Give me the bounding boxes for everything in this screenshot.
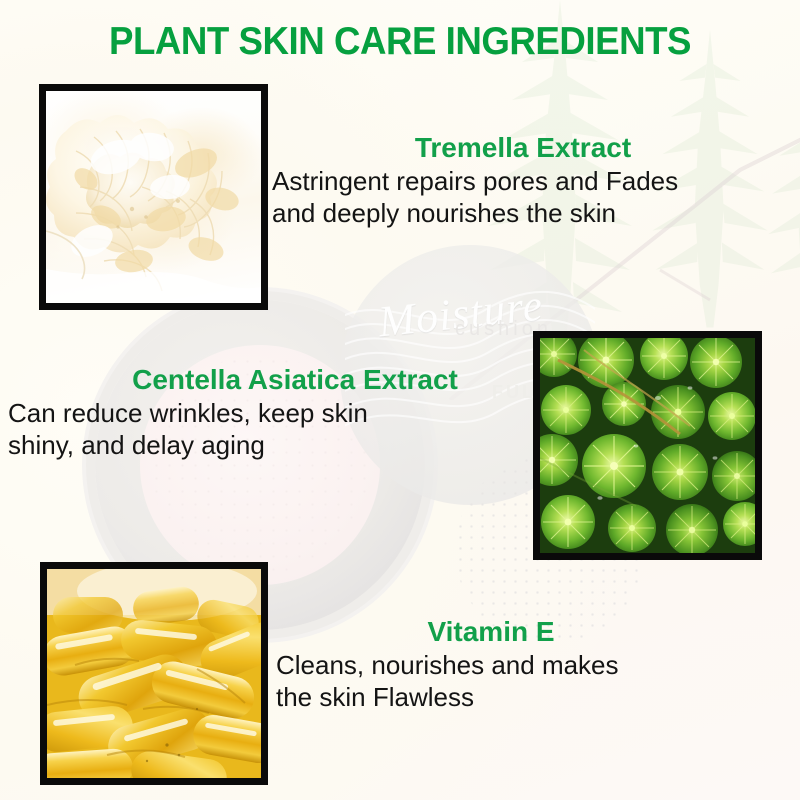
centella-photo-frame [533,331,762,560]
centella-asiatica-leaves-photo [540,338,755,553]
centella-text-block: Centella Asiatica Extract Can reduce wri… [8,365,528,462]
vitamin-e-capsules-photo [47,569,261,778]
poster-canvas: Moisture cushion FUL PLANT SKIN CARE ING… [0,0,800,800]
page-title: PLANT SKIN CARE INGREDIENTS [24,20,776,64]
tremella-text-block: Tremella Extract Astringent repairs pore… [272,133,792,230]
tremella-body-line2: and deeply nourishes the skin [272,198,792,230]
centella-body-line1: Can reduce wrinkles, keep skin [8,398,528,430]
centella-body-line2: shiny, and delay aging [8,430,528,462]
centella-heading: Centella Asiatica Extract [8,365,528,396]
vitamin-e-photo-frame [40,562,268,785]
tremella-photo-frame [39,84,268,310]
vitamin-e-body-line2: the skin Flawless [276,682,796,714]
vitamin-e-body-line1: Cleans, nourishes and makes [276,650,796,682]
vitamin-e-heading: Vitamin E [276,617,796,648]
tremella-white-fungus-photo [46,91,261,303]
tremella-heading: Tremella Extract [272,133,792,164]
watermark-script-text: Moisture [376,280,546,348]
tremella-body-line1: Astringent repairs pores and Fades [272,166,792,198]
vitamin-e-text-block: Vitamin E Cleans, nourishes and makes th… [276,617,796,714]
